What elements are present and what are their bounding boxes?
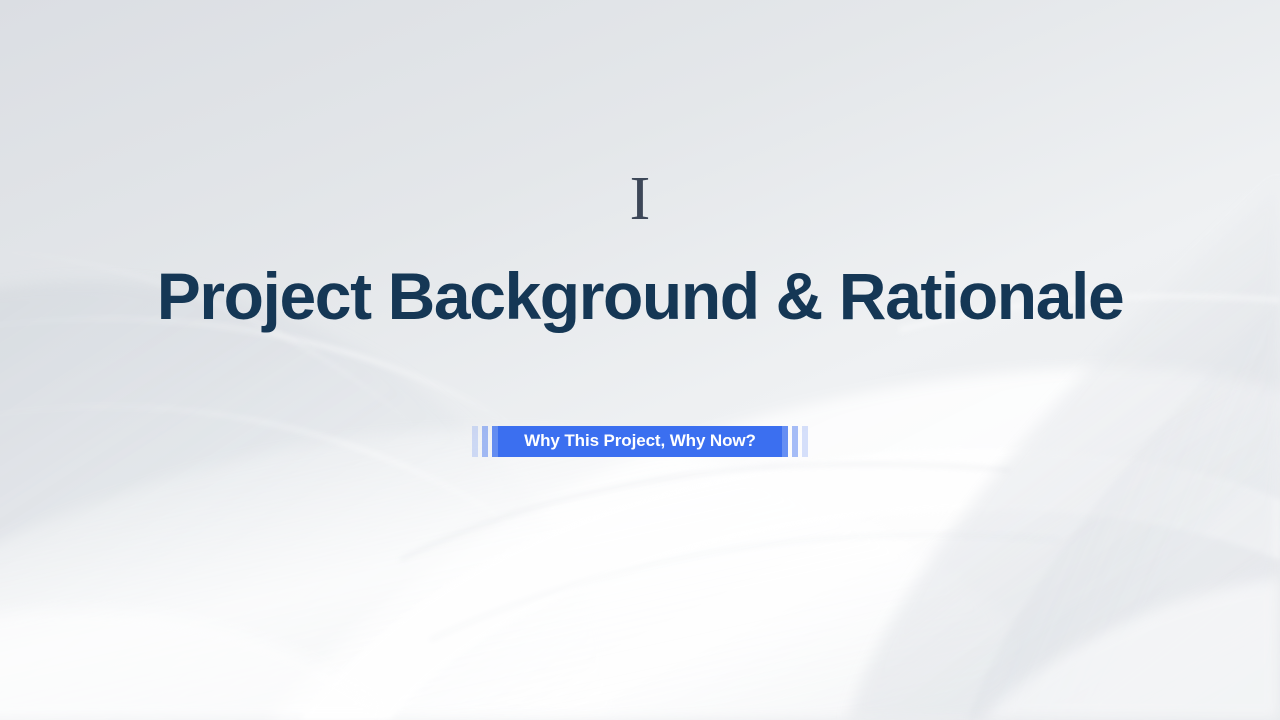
decor-bar-right-strong (782, 426, 788, 457)
slide-content: I Project Background & Rationale Why Thi… (0, 0, 1280, 720)
decor-bar-right-medium (792, 426, 798, 457)
decor-bar-left-medium (482, 426, 488, 457)
page-title: Project Background & Rationale (157, 262, 1124, 332)
section-numeral: I (630, 168, 651, 230)
decor-bar-right-faint (802, 426, 808, 457)
subtitle-badge-row: Why This Project, Why Now? (472, 424, 808, 458)
decor-bar-left-faint (472, 426, 478, 457)
title-slide: I Project Background & Rationale Why Thi… (0, 0, 1280, 720)
subtitle-badge: Why This Project, Why Now? (498, 426, 782, 457)
decor-bar-left-strong (492, 426, 498, 457)
